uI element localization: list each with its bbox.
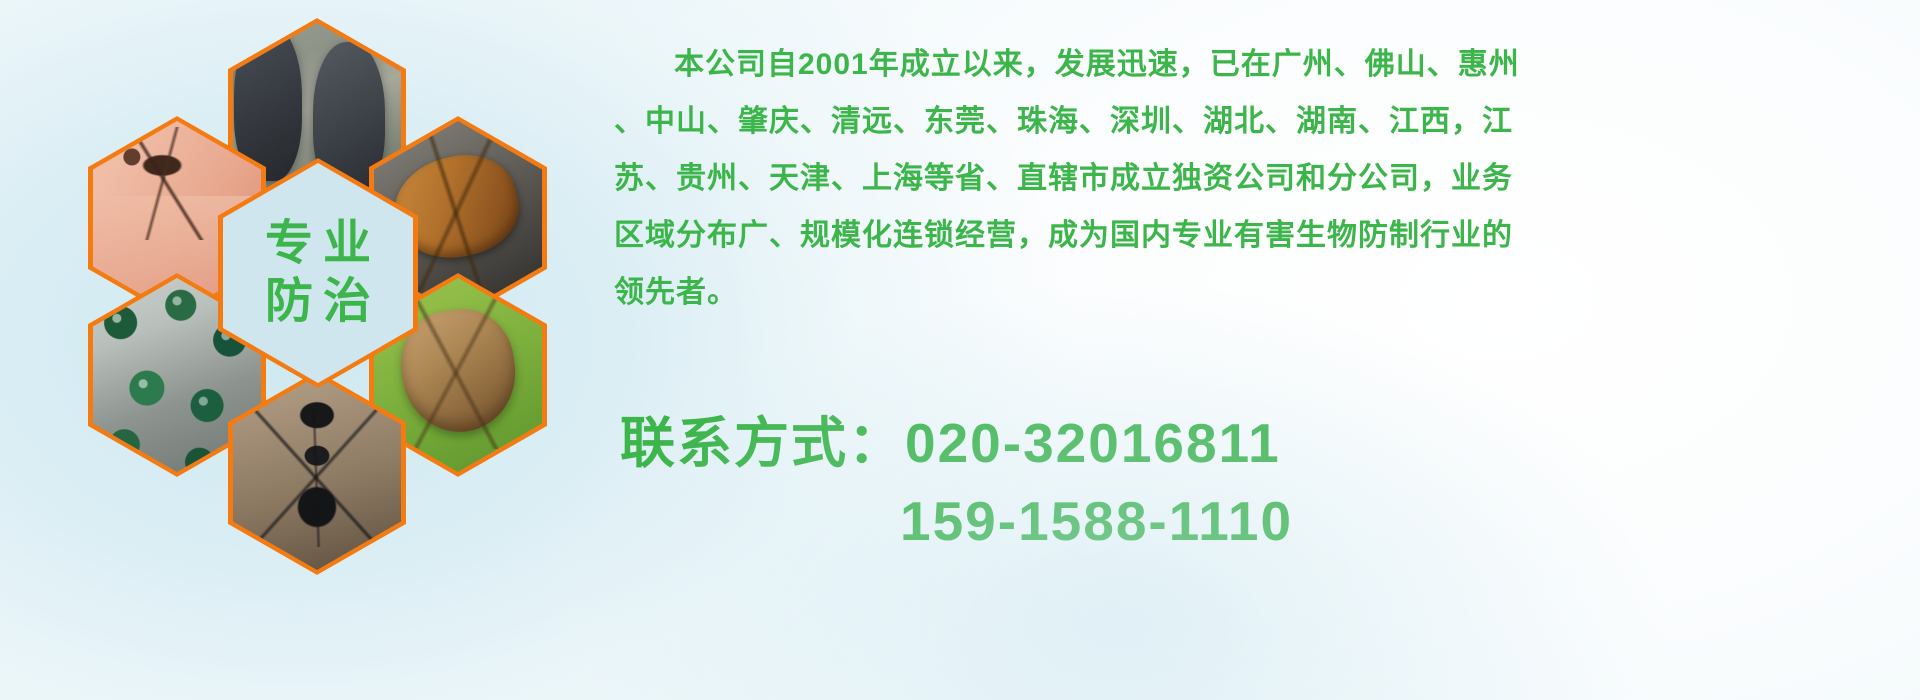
contact-phone-mobile[interactable]: 159-1588-1110 (620, 482, 1890, 560)
brand-line-2: 防治 (255, 277, 381, 327)
intro-line-5: 领先者。 (614, 264, 1884, 321)
contact-phone-landline[interactable]: 联系方式：020-32016811 (620, 404, 1890, 482)
intro-line-2: 、中山、肇庆、清远、东莞、珠海、深圳、湖北、湖南、江西，江 (614, 93, 1884, 150)
intro-paragraph: 本公司自2001年成立以来，发展迅速，已在广州、佛山、惠州 、中山、肇庆、清远、… (614, 36, 1884, 321)
pest-control-banner: 专业 防治 本公司自2001年成立以来，发展迅速，已在广州、佛山、惠州 、中山、… (0, 0, 1920, 700)
brand-line-1: 专业 (255, 219, 381, 269)
intro-line-4: 区域分布广、规模化连锁经营，成为国内专业有害生物防制行业的 (614, 207, 1884, 264)
hexagon-collage: 专业 防治 (88, 8, 588, 568)
intro-line-1: 本公司自2001年成立以来，发展迅速，已在广州、佛山、惠州 (614, 36, 1884, 93)
intro-line-3: 苏、贵州、天津、上海等省、直辖市成立独资公司和分公司，业务 (614, 150, 1884, 207)
contact-block: 联系方式：020-32016811 159-1588-1110 (620, 404, 1890, 560)
